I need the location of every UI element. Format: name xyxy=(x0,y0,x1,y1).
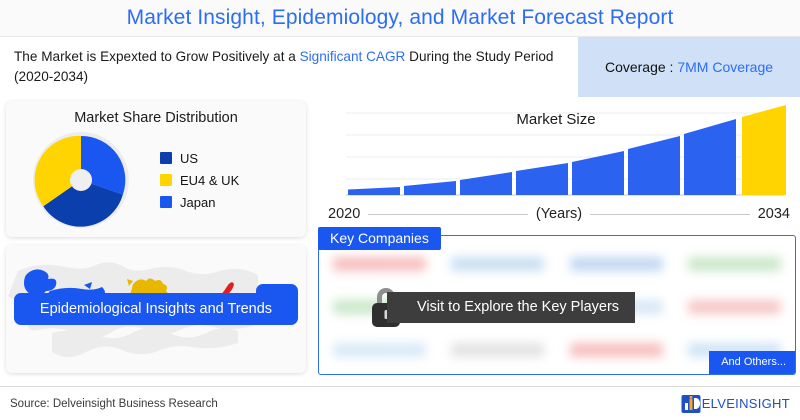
bar-2024 xyxy=(460,172,512,195)
market-statement: The Market is Expexted to Grow Positivel… xyxy=(0,37,578,97)
bar-2030 xyxy=(628,136,680,195)
report-infographic: Market Insight, Epidemiology, and Market… xyxy=(0,0,800,420)
bar-2020 xyxy=(348,187,400,195)
logo-placeholder xyxy=(570,343,663,357)
legend-item-japan: Japan xyxy=(160,195,239,210)
logo-placeholder xyxy=(570,257,663,271)
statement-text-1: The Market is Expexted to Grow Positivel… xyxy=(14,49,300,64)
brand-mark-icon xyxy=(681,394,701,414)
bar-2028 xyxy=(572,151,624,195)
brand-name: ELVEINSIGHT xyxy=(702,396,790,411)
donut-svg xyxy=(29,128,133,232)
and-others-badge[interactable]: And Others... xyxy=(709,351,795,374)
coverage-label: Coverage : xyxy=(605,59,677,75)
legend-item-us: US xyxy=(160,151,239,166)
legend-label: Japan xyxy=(180,195,215,210)
logo-placeholder xyxy=(688,257,781,271)
coverage-value: 7MM Coverage xyxy=(677,59,773,75)
footer: Source: Delveinsight Business Research E… xyxy=(0,386,800,420)
legend-label: EU4 & UK xyxy=(180,173,239,188)
page-title: Market Insight, Epidemiology, and Market… xyxy=(127,6,674,30)
logo-placeholder xyxy=(451,257,544,271)
logo-placeholder xyxy=(688,300,781,314)
key-companies-box[interactable]: Visit to Explore the Key Players And Oth… xyxy=(318,235,796,375)
epi-banner-label: Epidemiological Insights and Trends xyxy=(40,301,272,317)
legend-swatch-icon xyxy=(160,152,172,164)
axis-center-label: (Years) xyxy=(536,206,582,222)
bar-2026 xyxy=(516,163,568,195)
title-bar: Market Insight, Epidemiology, and Market… xyxy=(0,0,800,36)
donut-chart xyxy=(6,128,156,232)
logo-placeholder xyxy=(451,343,544,357)
market-share-legend: US EU4 & UK Japan xyxy=(156,151,239,210)
logo-placeholder xyxy=(333,257,426,271)
epidemiological-insights-banner[interactable]: Epidemiological Insights and Trends xyxy=(14,293,298,325)
market-share-title: Market Share Distribution xyxy=(6,101,306,126)
statement-highlight: Significant CAGR xyxy=(300,49,406,64)
axis-start-label: 2020 xyxy=(328,206,360,222)
key-companies-tag: Key Companies xyxy=(318,227,441,250)
source-text: Source: Delveinsight Business Research xyxy=(10,398,218,410)
legend-swatch-icon xyxy=(160,196,172,208)
legend-label: US xyxy=(180,151,198,166)
subheader: The Market is Expexted to Grow Positivel… xyxy=(0,36,800,97)
market-share-card: Market Share Distribution US xyxy=(6,101,306,237)
axis-line-left xyxy=(368,214,528,215)
axis-line-right xyxy=(590,214,750,215)
legend-item-eu4-uk: EU4 & UK xyxy=(160,173,239,188)
market-size-chart: Market Size 2020 (Years) 2034 xyxy=(318,101,794,225)
market-size-title: Market Size xyxy=(318,111,794,128)
axis-end-label: 2034 xyxy=(758,206,790,222)
overlay-cta-text: Visit to Explore the Key Players xyxy=(387,292,635,323)
locked-content-overlay: Visit to Explore the Key Players xyxy=(363,282,635,332)
bar-2022 xyxy=(404,181,456,195)
chart-x-axis: 2020 (Years) 2034 xyxy=(328,203,790,225)
legend-swatch-icon xyxy=(160,174,172,186)
logo-placeholder xyxy=(333,343,426,357)
bar-2032 xyxy=(684,119,736,195)
body-area: Market Share Distribution US xyxy=(0,97,800,381)
delveinsight-logo: ELVEINSIGHT xyxy=(681,394,790,414)
coverage-panel: Coverage : 7MM Coverage xyxy=(578,37,800,97)
